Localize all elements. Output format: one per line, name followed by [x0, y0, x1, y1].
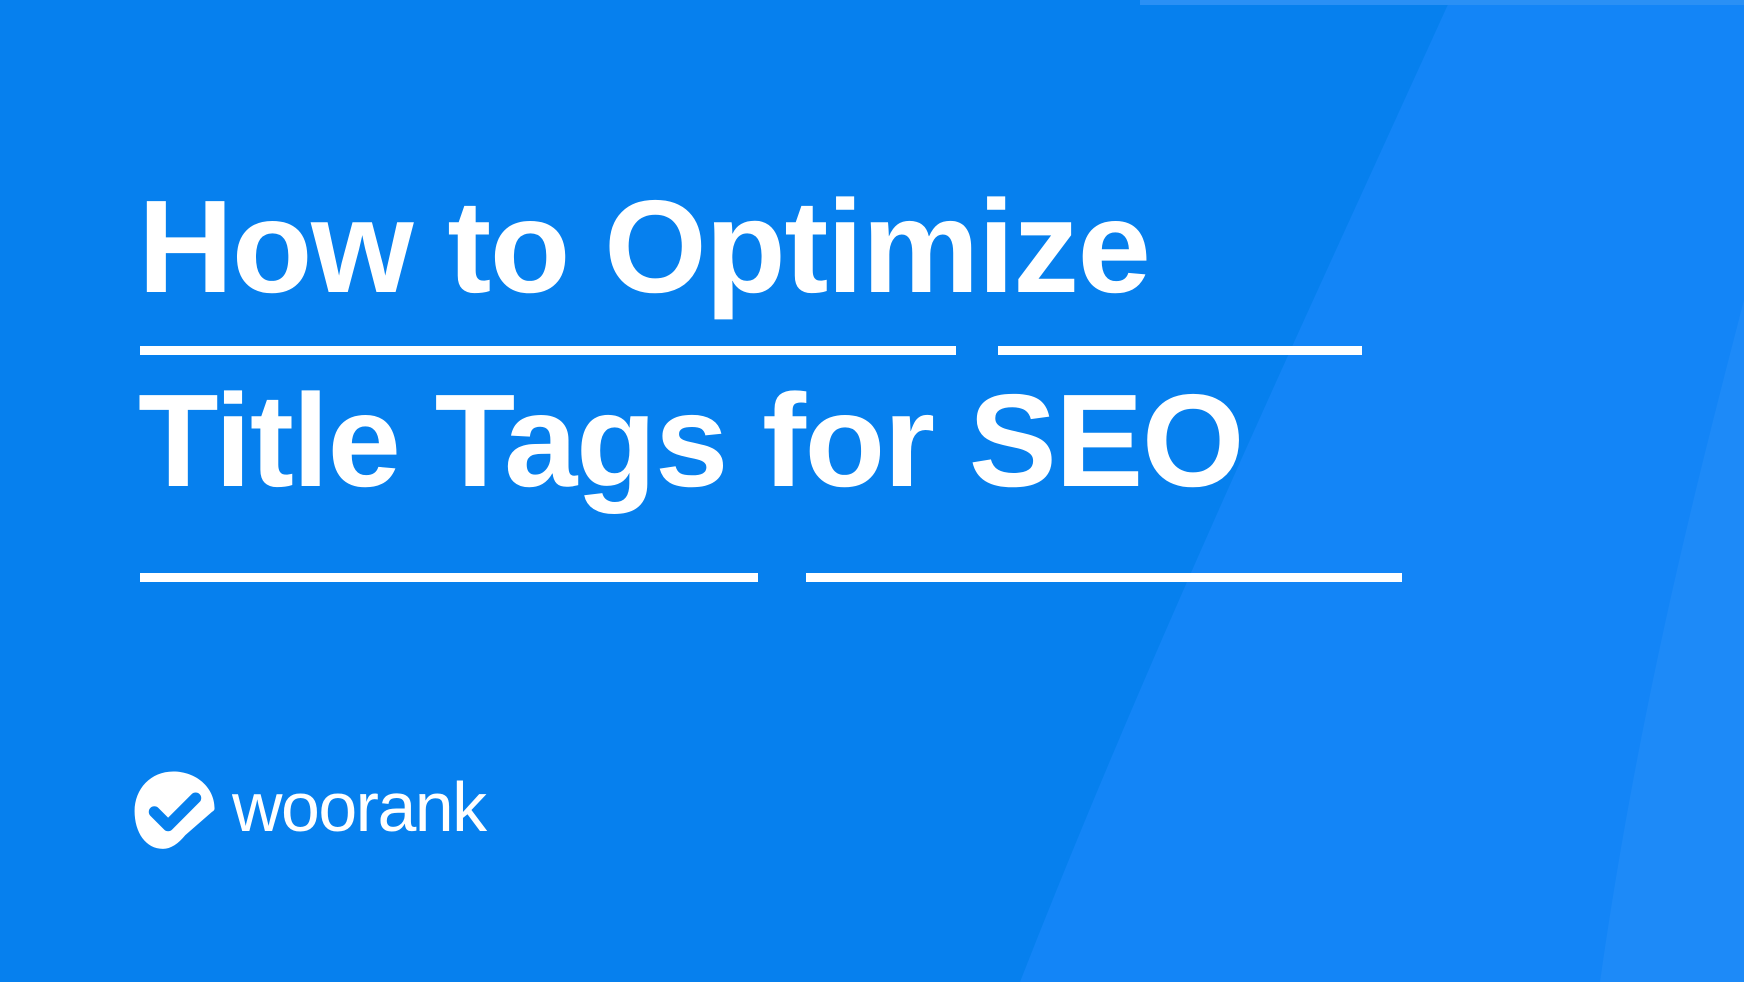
headline-line-2-text: Title Tags for SEO — [138, 367, 1243, 514]
headline-line-2: Title Tags for SEO — [138, 344, 1558, 538]
woorank-wordmark: woorank — [232, 773, 589, 849]
descender-gap-g — [758, 570, 806, 586]
headline-line-1: How to Optimize — [138, 150, 1558, 344]
woorank-logo[interactable]: woorank woorank — [132, 765, 589, 857]
page-title: How to Optimize Title Tags for SEO — [138, 150, 1558, 538]
checkmark-badge-icon — [132, 768, 218, 854]
svg-text:woorank: woorank — [232, 773, 488, 846]
headline-underline-1 — [140, 346, 1362, 355]
headline-line-1-text: How to Optimize — [138, 173, 1149, 320]
background-top-strip — [1140, 0, 1744, 5]
hero-banner: How to Optimize Title Tags for SEO woora… — [0, 0, 1744, 982]
background-arc-secondary — [1600, 300, 1744, 982]
descender-gap-p — [956, 343, 998, 359]
